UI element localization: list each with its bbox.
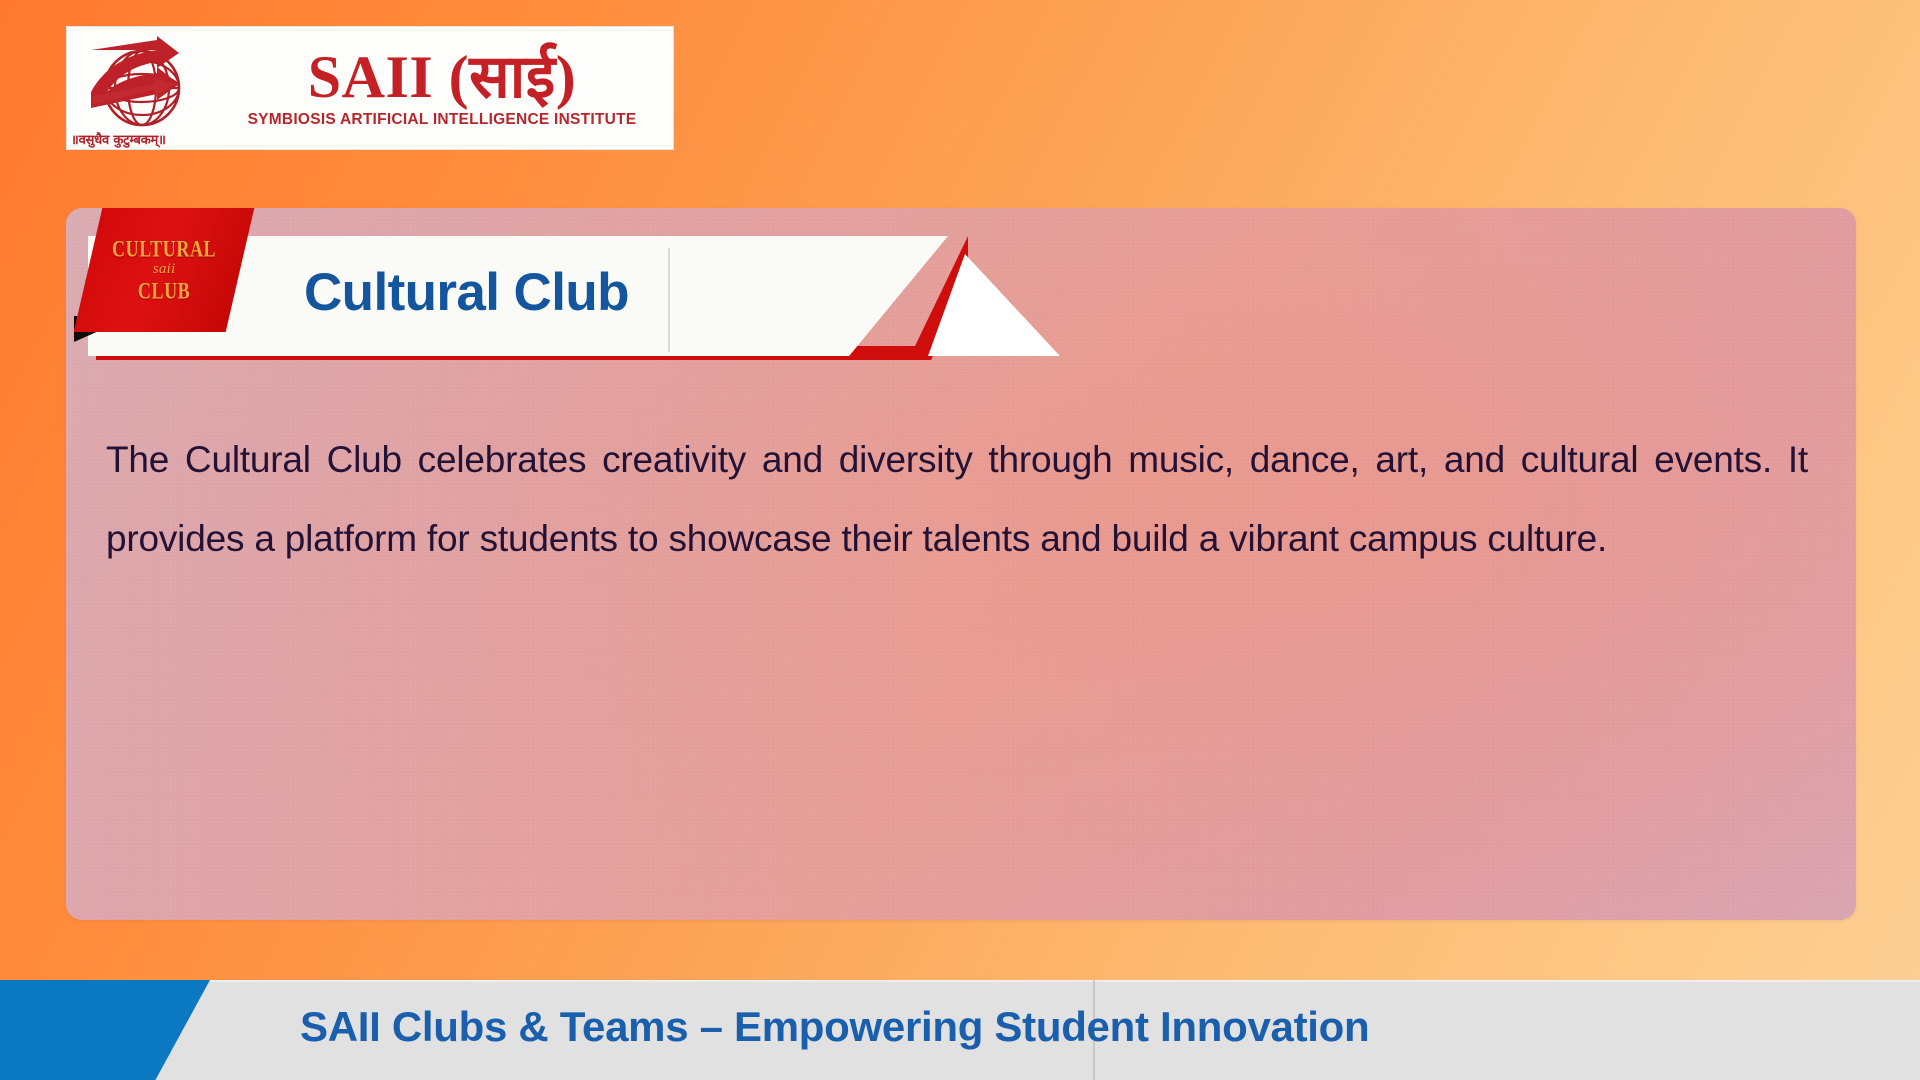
- badge-line-2: saii: [112, 262, 216, 277]
- footer-top-rule: [0, 980, 1920, 982]
- club-description: The Cultural Club celebrates creativity …: [106, 420, 1808, 578]
- footer-title: SAII Clubs & Teams – Empowering Student …: [300, 1006, 1369, 1048]
- footer-blue-wedge: [0, 980, 210, 1080]
- club-card: CULTURAL saii CLUB Cultural Club The Cul…: [66, 208, 1856, 920]
- logo-text-block: SAII (साई) SYMBIOSIS ARTIFICIAL INTELLIG…: [217, 27, 673, 149]
- banner-divider: [668, 248, 670, 352]
- page-title: Cultural Club: [304, 266, 629, 319]
- slide-footer: SAII Clubs & Teams – Empowering Student …: [0, 980, 1920, 1080]
- cultural-club-badge: CULTURAL saii CLUB: [74, 208, 255, 332]
- saii-logo: ॥वसुधैव कुटुम्बकम्॥ SAII (साई) SYMBIOSIS…: [66, 26, 674, 150]
- banner-triangle-flag-icon: [928, 254, 1060, 356]
- globe-arrow-icon: ॥वसुधैव कुटुम्बकम्॥: [67, 27, 217, 149]
- slide-root: ॥वसुधैव कुटुम्बकम्॥ SAII (साई) SYMBIOSIS…: [0, 0, 1920, 1080]
- club-header-banner: CULTURAL saii CLUB Cultural Club: [66, 208, 1026, 388]
- logo-motto: ॥वसुधैव कुटुम्बकम्॥: [71, 130, 166, 148]
- badge-line-1: CULTURAL: [112, 237, 216, 261]
- badge-inner: CULTURAL saii CLUB: [112, 240, 216, 300]
- badge-line-3: CLUB: [112, 279, 216, 303]
- club-description-text: The Cultural Club celebrates creativity …: [106, 420, 1808, 578]
- logo-title: SAII (साई): [308, 47, 576, 107]
- logo-subtitle: SYMBIOSIS ARTIFICIAL INTELLIGENCE INSTIT…: [248, 111, 637, 129]
